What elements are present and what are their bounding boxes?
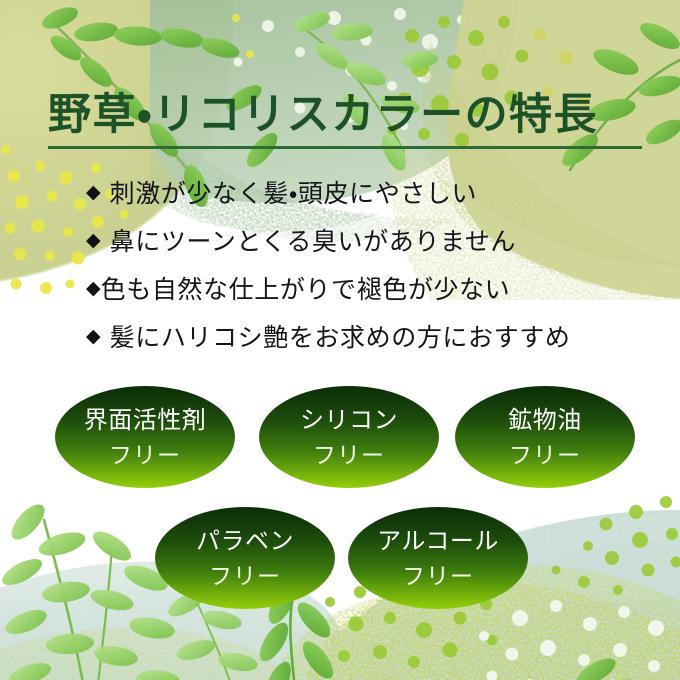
badge-title: パラベン — [196, 529, 294, 553]
badge-subtitle: フリー — [509, 445, 581, 468]
poster-canvas: 野草・リコリスカラーの特長 ◆ 刺激が少なく髪・頭皮にやさしい ◆ 鼻にツーンと… — [0, 0, 680, 680]
list-item: ◆ 色も自然な仕上がりで褪色が少ない — [86, 264, 656, 312]
title-underline — [48, 146, 642, 149]
page-title: 野草・リコリスカラーの特長 — [48, 94, 648, 138]
badge-subtitle: フリー — [209, 566, 281, 589]
badge-paraben-free: パラベン フリー — [155, 507, 335, 609]
diamond-bullet-icon: ◆ — [86, 231, 101, 250]
list-item-label: 鼻にツーンとくる臭いがありません — [110, 222, 516, 258]
list-item: ◆ 髪にハリコシ艶をお求めの方におすすめ — [86, 312, 656, 360]
badge-mineral-oil-free: 鉱物油 フリー — [455, 386, 635, 488]
diamond-bullet-icon: ◆ — [86, 279, 101, 298]
badge-title: 界面活性剤 — [84, 408, 207, 432]
feature-list: ◆ 刺激が少なく髪・頭皮にやさしい ◆ 鼻にツーンとくる臭いがありません ◆ 色… — [86, 168, 656, 360]
badge-title: 鉱物油 — [508, 408, 582, 432]
badge-silicone-free: シリコン フリー — [259, 386, 439, 488]
list-item: ◆ 鼻にツーンとくる臭いがありません — [86, 216, 656, 264]
badge-surfactant-free: 界面活性剤 フリー — [55, 386, 235, 488]
list-item-label: 色も自然な仕上がりで褪色が少ない — [101, 270, 511, 306]
list-item-label: 刺激が少なく髪・頭皮にやさしい — [110, 174, 478, 210]
page-title-block: 野草・リコリスカラーの特長 — [48, 94, 648, 138]
badge-title: アルコール — [377, 529, 499, 553]
list-item-label: 髪にハリコシ艶をお求めの方におすすめ — [110, 318, 571, 354]
list-item: ◆ 刺激が少なく髪・頭皮にやさしい — [86, 168, 656, 216]
diamond-bullet-icon: ◆ — [86, 183, 101, 202]
badge-subtitle: フリー — [313, 445, 385, 468]
badge-subtitle: フリー — [402, 566, 474, 589]
diamond-bullet-icon: ◆ — [86, 327, 101, 346]
badge-alcohol-free: アルコール フリー — [348, 507, 528, 609]
badge-title: シリコン — [300, 408, 398, 432]
badge-subtitle: フリー — [109, 445, 181, 468]
